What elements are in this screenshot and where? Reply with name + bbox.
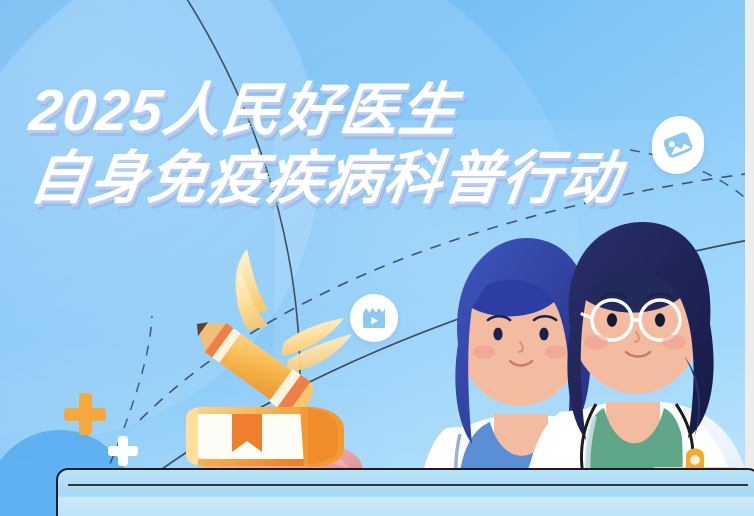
open-book-illustration [186, 407, 344, 467]
desk-edge-line [68, 484, 748, 486]
poster-banner: 2025人民好医生 自身免疫疾病科普行动 [0, 0, 754, 516]
desk-counter [56, 468, 754, 516]
